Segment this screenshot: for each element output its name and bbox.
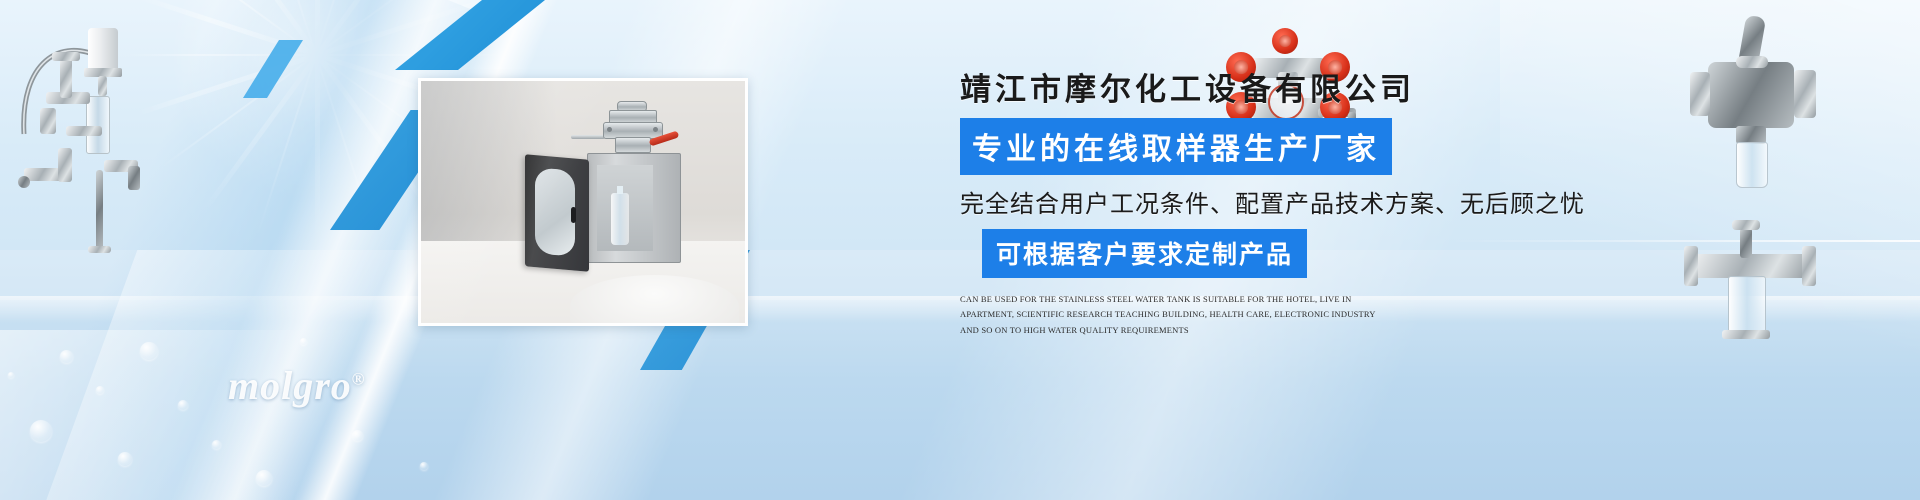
sub-headline: 完全结合用户工况条件、配置产品技术方案、无后顾之忧 — [960, 184, 1600, 219]
sampler-housing — [1708, 62, 1794, 128]
sight-glass — [86, 96, 110, 154]
product-photo-image — [421, 81, 745, 323]
sample-vial — [1736, 142, 1768, 188]
chevron-decoration — [395, 0, 545, 70]
tee-flange — [1684, 246, 1698, 286]
water-droplet — [8, 372, 14, 378]
water-droplet — [60, 350, 73, 363]
valve-body — [66, 126, 102, 136]
watermark-logo: molgro® — [228, 362, 366, 409]
water-droplet — [420, 462, 428, 470]
tee-cap — [1732, 220, 1760, 230]
instrument-housing — [88, 28, 118, 72]
valve-body — [128, 166, 140, 190]
water-droplet — [212, 440, 221, 449]
tee-flange — [1802, 246, 1816, 286]
fineprint-text: CAN BE USED FOR THE STAINLESS STEEL WATE… — [960, 292, 1380, 339]
red-handwheel-icon — [1272, 28, 1298, 54]
company-name: 靖江市摩尔化工设备有限公司 — [960, 72, 1600, 108]
sampler-flange — [1690, 72, 1710, 116]
tee-stem — [1740, 228, 1752, 258]
tee-sight-glass — [1728, 276, 1766, 336]
headline-highlight-row: 专业的在线取样器生产厂家 — [960, 108, 1600, 175]
valve-body — [58, 148, 72, 182]
tee-base — [1722, 330, 1770, 339]
post-base — [88, 246, 111, 253]
valve-body — [18, 176, 30, 188]
water-droplet — [352, 430, 363, 441]
secondary-highlight-row: 可根据客户要求定制产品 — [960, 219, 1600, 278]
support-post — [96, 170, 103, 250]
promo-banner: 靖江市摩尔化工设备有限公司 专业的在线取样器生产厂家 完全结合用户工况条件、配置… — [0, 0, 1920, 500]
watermark-text: molgro — [228, 363, 352, 408]
water-droplet — [178, 400, 188, 410]
pale-diagonal — [0, 330, 420, 500]
photo-gloss — [421, 81, 745, 323]
product-photo — [418, 78, 748, 326]
water-droplet — [30, 420, 52, 442]
valve-body — [60, 58, 72, 98]
water-droplet — [300, 338, 307, 345]
headline-highlight: 专业的在线取样器生产厂家 — [960, 118, 1392, 175]
valve-body — [52, 52, 80, 61]
lever-pivot — [1736, 56, 1768, 68]
valve-body — [40, 108, 56, 134]
instrument-stem — [98, 76, 107, 96]
banner-text-block: 靖江市摩尔化工设备有限公司 专业的在线取样器生产厂家 完全结合用户工况条件、配置… — [960, 72, 1600, 339]
secondary-highlight: 可根据客户要求定制产品 — [982, 229, 1307, 278]
chevron-decoration — [243, 40, 303, 98]
watermark-registered-mark: ® — [352, 370, 366, 389]
curved-arm-icon — [10, 22, 140, 142]
water-droplet — [140, 342, 158, 360]
water-droplet — [96, 386, 104, 394]
water-droplet — [118, 452, 132, 466]
sampler-flange — [1794, 70, 1816, 118]
water-droplet — [256, 470, 272, 486]
